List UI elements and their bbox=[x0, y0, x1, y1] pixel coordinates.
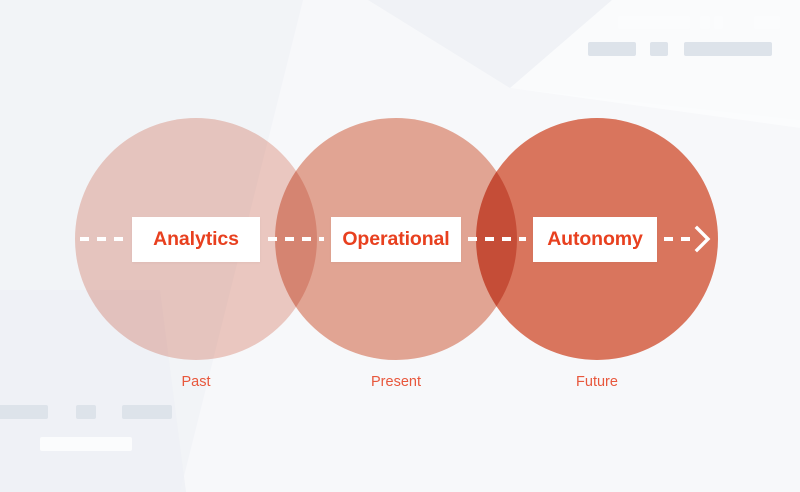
era-label-future: Future bbox=[547, 374, 647, 390]
stage-label-autonomy: Autonomy bbox=[547, 228, 643, 251]
stage-label-operational: Operational bbox=[342, 228, 449, 251]
era-text-past: Past bbox=[181, 374, 210, 390]
stage-chip-analytics[interactable]: Analytics bbox=[132, 217, 260, 262]
stage-label-analytics: Analytics bbox=[153, 228, 239, 251]
era-text-future: Future bbox=[576, 374, 618, 390]
era-text-present: Present bbox=[371, 374, 421, 390]
stage-chip-operational[interactable]: Operational bbox=[331, 217, 461, 262]
stage-chip-autonomy[interactable]: Autonomy bbox=[533, 217, 657, 262]
era-label-present: Present bbox=[346, 374, 446, 390]
era-label-past: Past bbox=[146, 374, 246, 390]
diagram-canvas: Analytics Operational Autonomy Past Pres… bbox=[0, 0, 800, 492]
